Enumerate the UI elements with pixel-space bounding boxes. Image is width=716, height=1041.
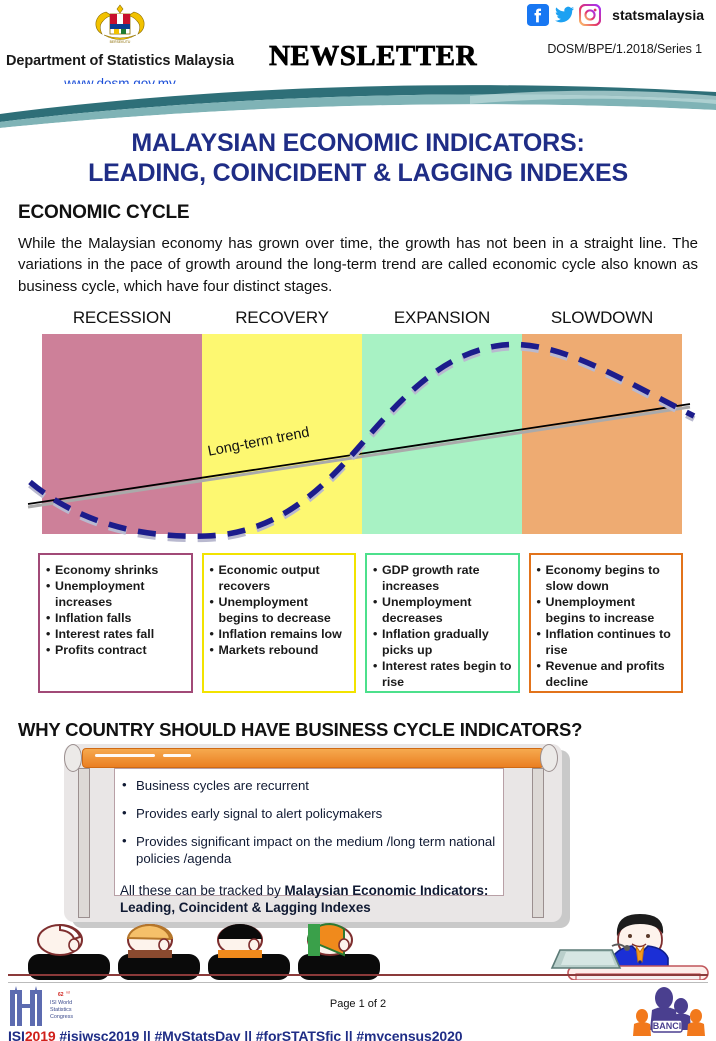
audience-member-2	[118, 925, 200, 980]
list-item: Unemployment begins to decrease	[210, 594, 349, 626]
header-wave-decoration	[0, 84, 716, 130]
list-item: Inflation gradually picks up	[373, 626, 512, 658]
list-item: Unemployment begins to increase	[537, 594, 676, 626]
list-item: Inflation continues to rise	[537, 626, 676, 658]
page-number: Page 1 of 2	[0, 998, 716, 1010]
list-item: Economic output recovers	[210, 562, 349, 594]
twitter-icon[interactable]	[553, 4, 575, 26]
instagram-icon[interactable]	[579, 4, 601, 26]
flipchart-leg-left	[78, 768, 90, 918]
list-item: Interest rates begin to rise	[373, 658, 512, 690]
section-heading-why-indicators: WHY COUNTRY SHOULD HAVE BUSINESS CYCLE I…	[18, 719, 582, 741]
document-code: DOSM/BPE/1.2018/Series 1	[547, 42, 702, 56]
svg-text:Congress: Congress	[50, 1014, 73, 1020]
list-item: Inflation remains low	[210, 626, 349, 642]
stage-box-slowdown: Economy begins to slow down Unemployment…	[529, 553, 684, 693]
newsletter-page: BERSEKUTU Department of Statistics Malay…	[0, 0, 716, 1041]
footer-divider	[8, 982, 708, 983]
list-item: Unemployment increases	[46, 578, 185, 610]
page-header: BERSEKUTU Department of Statistics Malay…	[0, 0, 716, 108]
stage-bullets-expansion: GDP growth rate increases Unemployment d…	[373, 562, 512, 690]
stage-bullets-recession: Economy shrinks Unemployment increases I…	[46, 562, 185, 658]
trend-line-group	[28, 404, 690, 507]
economic-cycle-chart: RECESSION RECOVERY EXPANSION SLOWDOWN Lo…	[18, 308, 698, 543]
list-item: Inflation falls	[46, 610, 185, 626]
flipchart-leg-right	[532, 768, 544, 918]
dosm-branding: BERSEKUTU Department of Statistics Malay…	[6, 2, 234, 93]
newsletter-title: NEWSLETTER	[248, 40, 498, 73]
section-heading-economic-cycle: ECONOMIC CYCLE	[18, 202, 189, 224]
list-item: GDP growth rate increases	[373, 562, 512, 594]
why-note-prefix: All these can be tracked by	[120, 883, 285, 898]
stage-detail-boxes: Economy shrinks Unemployment increases I…	[38, 553, 683, 693]
dosm-org-name: Department of Statistics Malaysia	[6, 52, 234, 70]
hashtags-isi: ISI	[8, 1028, 25, 1041]
why-bullets: Business cycles are recurrent Provides e…	[120, 778, 500, 879]
list-item: Unemployment decreases	[373, 594, 512, 626]
list-item: Provides early signal to alert policymak…	[120, 806, 500, 823]
audience-member-1	[28, 925, 110, 980]
hashtags-rest: #isiwsc2019 || #MyStatsDay || #forSTATSf…	[59, 1028, 462, 1041]
list-item: Profits contract	[46, 642, 185, 658]
list-item: Economy begins to slow down	[537, 562, 676, 594]
stage-bullets-slowdown: Economy begins to slow down Unemployment…	[537, 562, 676, 690]
flipchart-knob-right	[540, 744, 558, 772]
stage-floor-line	[8, 974, 708, 976]
cycle-curve-group	[30, 345, 694, 540]
economic-cycle-intro: While the Malaysian economy has grown ov…	[18, 233, 698, 297]
list-item: Markets rebound	[210, 642, 349, 658]
stage-bullets-recovery: Economic output recovers Unemployment be…	[210, 562, 349, 658]
stage-box-expansion: GDP growth rate increases Unemployment d…	[365, 553, 520, 693]
malaysia-coat-of-arms-icon: BERSEKUTU	[84, 2, 156, 50]
stage-box-recession: Economy shrinks Unemployment increases I…	[38, 553, 193, 693]
stage-box-recovery: Economic output recovers Unemployment be…	[202, 553, 357, 693]
list-item: Revenue and profits decline	[537, 658, 676, 690]
hashtags-year: 2019	[25, 1028, 56, 1041]
audience-and-presenter-illustration	[0, 912, 716, 980]
list-item: Interest rates fall	[46, 626, 185, 642]
page-title-line1: MALAYSIAN ECONOMIC INDICATORS:	[0, 128, 716, 158]
footer-hashtags: ISI2019 #isiwsc2019 || #MyStatsDay || #f…	[8, 1028, 708, 1041]
chart-lines	[18, 308, 698, 543]
page-title-line2: LEADING, COINCIDENT & LAGGING INDEXES	[0, 158, 716, 188]
social-media-row: statsmalaysia	[527, 4, 704, 26]
svg-text:BERSEKUTU: BERSEKUTU	[110, 40, 131, 44]
list-item: Provides significant impact on the mediu…	[120, 834, 500, 868]
audience-member-4	[298, 924, 380, 980]
svg-text:nd: nd	[66, 991, 70, 995]
flipchart-knob-left	[64, 744, 82, 772]
page-title: MALAYSIAN ECONOMIC INDICATORS: LEADING, …	[0, 128, 716, 188]
audience-member-3	[208, 924, 290, 980]
list-item: Economy shrinks	[46, 562, 185, 578]
facebook-icon[interactable]	[527, 4, 549, 26]
social-handle: statsmalaysia	[612, 7, 704, 23]
flipchart-roller	[82, 748, 544, 768]
list-item: Business cycles are recurrent	[120, 778, 500, 795]
